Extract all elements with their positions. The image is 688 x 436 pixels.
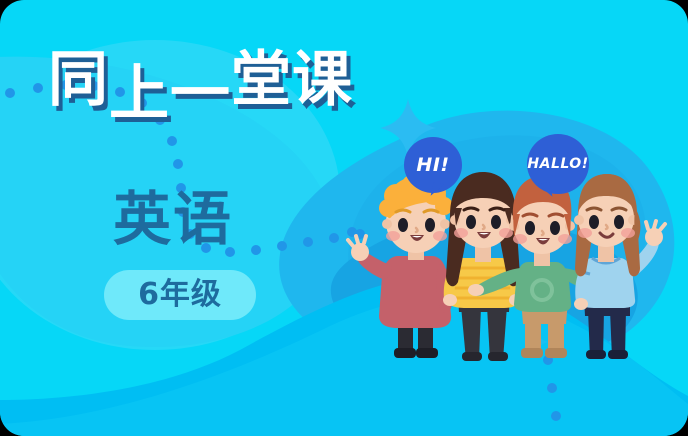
character-girl-lightbrown-waving xyxy=(574,174,665,359)
subject-label: 英语 xyxy=(113,190,233,248)
title-char-1: 同 xyxy=(48,50,109,110)
speech-bubble-hi: HI! xyxy=(404,137,462,193)
title-char-4: 堂 xyxy=(231,50,292,110)
character-girl-brown-hair xyxy=(443,172,523,361)
grade-badge-label: 6年级 xyxy=(138,280,222,310)
title-char-2: 上 xyxy=(109,64,170,124)
title-char-3: 一 xyxy=(170,64,231,124)
speech-bubble-hallo-text: HALLO! xyxy=(527,134,589,194)
speech-bubble-hi-text: HI! xyxy=(404,137,462,193)
title-char-5: 课 xyxy=(292,50,353,110)
banner-title: 同上一堂课 xyxy=(48,50,353,110)
speech-bubble-hallo: HALLO! xyxy=(527,134,589,194)
grade-badge: 6年级 xyxy=(104,270,256,320)
character-boy-blond-waving xyxy=(348,174,453,358)
course-banner-card: HI! HALLO! 同上一堂课 英语 6年级 xyxy=(0,0,688,436)
